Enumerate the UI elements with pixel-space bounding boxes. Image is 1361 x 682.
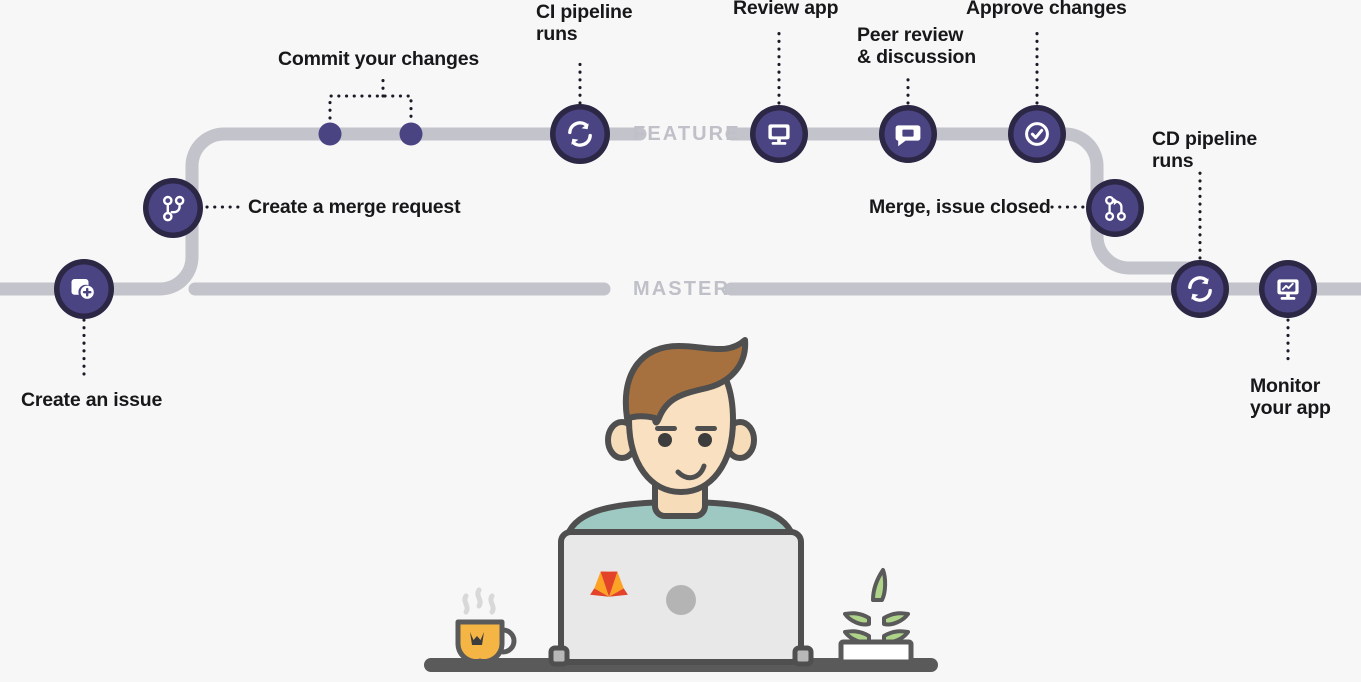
laptop-hinge-dot bbox=[666, 585, 696, 615]
label-create-a-merge-request: Create a merge request bbox=[248, 197, 460, 219]
eyebrow-left bbox=[655, 426, 677, 431]
label-approve-changes: Approve changes bbox=[966, 0, 1127, 20]
diagram-canvas bbox=[0, 0, 1361, 682]
node-merge-request[interactable] bbox=[143, 178, 203, 238]
node-peer-review[interactable] bbox=[879, 105, 937, 163]
label-monitor-your-app: Monitor your app bbox=[1250, 376, 1331, 420]
label-create-an-issue: Create an issue bbox=[21, 390, 162, 412]
eyebrow-right bbox=[695, 426, 717, 431]
node-merge[interactable] bbox=[1086, 179, 1144, 237]
steam-icon bbox=[465, 590, 493, 612]
node-approve-changes[interactable] bbox=[1008, 105, 1066, 163]
node-ci-pipeline[interactable] bbox=[550, 104, 610, 164]
label-merge-issue-closed: Merge, issue closed bbox=[869, 197, 1051, 219]
developer-illustration bbox=[424, 340, 938, 672]
workflow-diagram: FEATURE MASTER Commit your changes CI pi… bbox=[0, 0, 1361, 682]
label-commit-your-changes: Commit your changes bbox=[278, 49, 479, 71]
commit-dot[interactable] bbox=[400, 123, 423, 146]
potted-plant bbox=[841, 570, 911, 662]
coffee-mug bbox=[458, 622, 514, 661]
commit-dot[interactable] bbox=[319, 123, 342, 146]
label-ci-pipeline-runs: CI pipeline runs bbox=[536, 2, 632, 46]
label-cd-pipeline-runs: CD pipeline runs bbox=[1152, 129, 1257, 173]
commit-bracket bbox=[330, 96, 411, 118]
eye-right bbox=[698, 433, 712, 447]
label-peer-review: Peer review & discussion bbox=[857, 25, 976, 69]
node-monitor[interactable] bbox=[1259, 260, 1317, 318]
laptop bbox=[551, 532, 811, 664]
branch-label-master: MASTER bbox=[633, 278, 730, 301]
eye-left bbox=[658, 433, 672, 447]
node-create-issue[interactable] bbox=[54, 259, 114, 319]
label-review-app: Review app bbox=[733, 0, 838, 20]
branch-label-feature: FEATURE bbox=[633, 123, 741, 146]
node-review-app[interactable] bbox=[750, 105, 808, 163]
node-cd-pipeline[interactable] bbox=[1171, 260, 1229, 318]
